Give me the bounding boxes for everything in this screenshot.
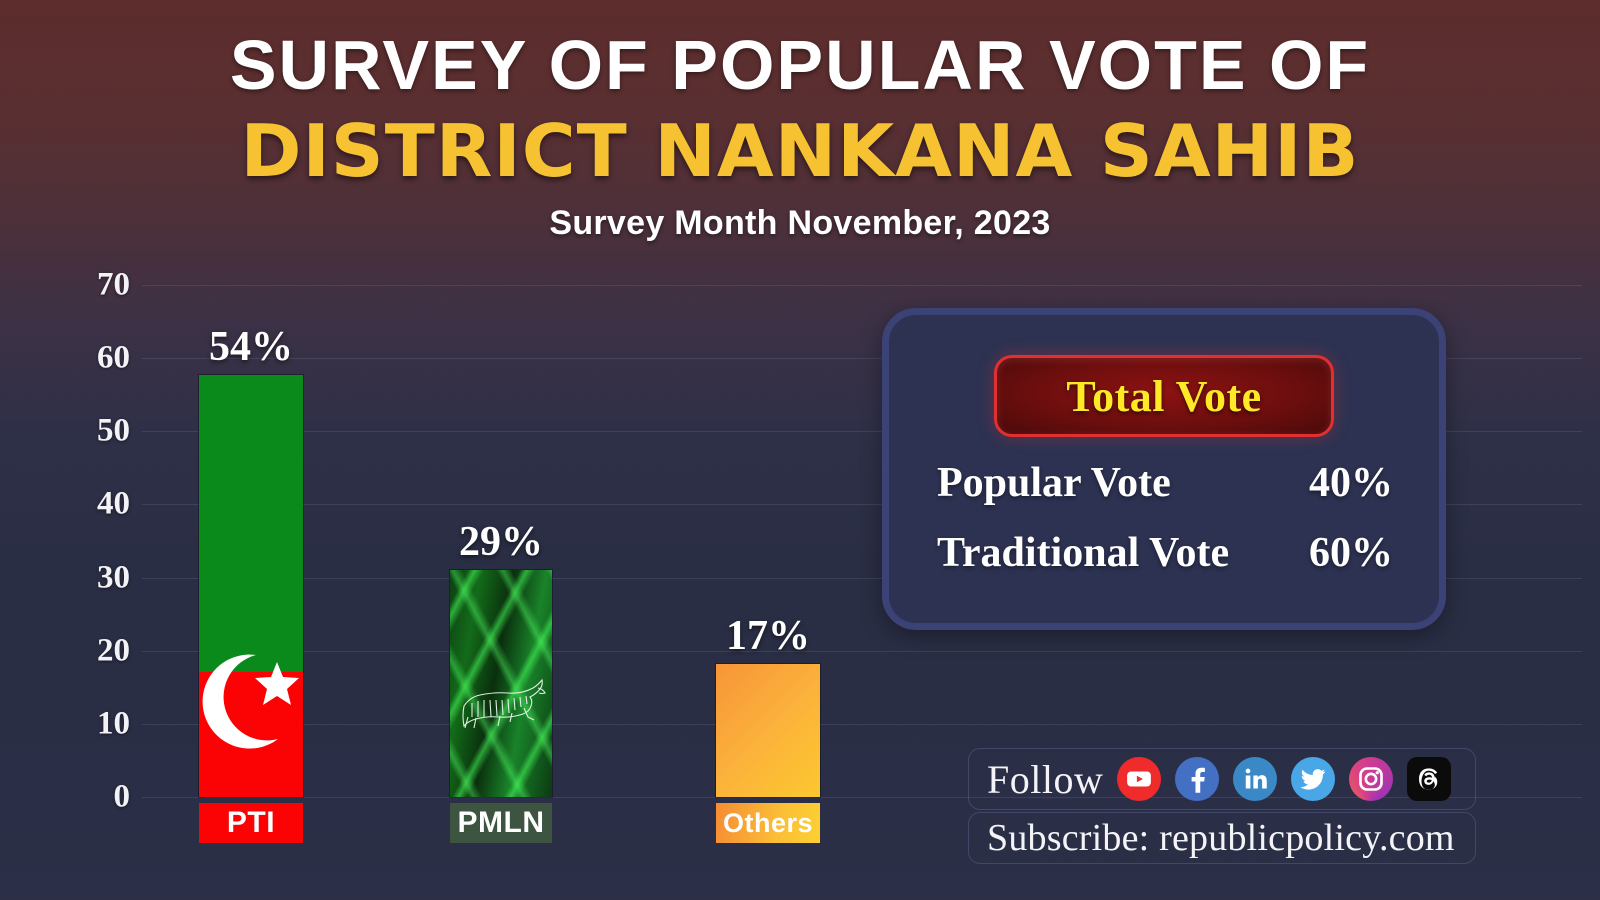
bar-others[interactable]: 17% Others — [716, 664, 820, 797]
gridline — [142, 724, 1582, 725]
y-tick-label: 0 — [60, 779, 130, 816]
y-tick-label: 30 — [60, 560, 130, 597]
y-axis: 70 60 50 40 30 20 10 0 — [55, 250, 130, 900]
total-vote-panel: Total Vote Popular Vote 40% Traditional … — [882, 308, 1446, 630]
bar-fill-pti — [199, 375, 303, 797]
youtube-icon[interactable] — [1117, 757, 1161, 801]
y-tick-label: 60 — [60, 340, 130, 377]
bar-label-pmln: PMLN — [450, 803, 552, 843]
bar-fill-pmln — [450, 570, 552, 797]
crescent-star-icon — [199, 375, 303, 797]
linkedin-icon[interactable] — [1233, 757, 1277, 801]
gridline — [142, 651, 1582, 652]
bar-label-pti: PTI — [199, 803, 303, 843]
y-tick-label: 20 — [60, 633, 130, 670]
follow-label: Follow — [987, 756, 1103, 803]
bar-label-text: Others — [723, 808, 813, 839]
follow-bar: Follow — [968, 748, 1476, 810]
y-tick-label: 70 — [60, 267, 130, 304]
y-tick-label: 10 — [60, 706, 130, 743]
subscribe-bar[interactable]: Subscribe: republicpolicy.com — [968, 812, 1476, 864]
bar-label-text: PTI — [227, 806, 275, 840]
facebook-icon[interactable] — [1175, 757, 1219, 801]
subscribe-label: Subscribe: republicpolicy.com — [987, 816, 1455, 860]
bar-fill-others — [716, 664, 820, 797]
gridline — [142, 285, 1582, 286]
bar-label-others: Others — [716, 803, 820, 843]
page-title: SURVEY OF POPULAR VOTE OF — [0, 30, 1600, 100]
total-vote-badge-label: Total Vote — [1066, 371, 1261, 422]
twitter-icon[interactable] — [1291, 757, 1335, 801]
bar-value-pti: 54% — [209, 323, 293, 371]
header: SURVEY OF POPULAR VOTE OF DISTRICT NANKA… — [0, 0, 1600, 243]
threads-icon[interactable] — [1407, 757, 1451, 801]
y-tick-label: 40 — [60, 486, 130, 523]
popular-vote-value: 40% — [1263, 459, 1393, 507]
y-tick-label: 50 — [60, 413, 130, 450]
traditional-vote-value: 60% — [1263, 529, 1393, 577]
panel-row-traditional-vote: Traditional Vote 60% — [925, 529, 1403, 577]
survey-month-subtitle: Survey Month November, 2023 — [0, 204, 1600, 243]
total-vote-badge: Total Vote — [994, 355, 1334, 437]
instagram-icon[interactable] — [1349, 757, 1393, 801]
bar-value-pmln: 29% — [459, 518, 543, 566]
traditional-vote-label: Traditional Vote — [937, 529, 1229, 577]
page-title-district: DISTRICT NANKANA SAHIB — [0, 114, 1600, 190]
bar-value-others: 17% — [726, 612, 810, 660]
bar-pti[interactable]: 54% PTI — [199, 375, 303, 797]
popular-vote-label: Popular Vote — [937, 459, 1171, 507]
bar-pmln[interactable]: 29% PMLN — [450, 570, 552, 797]
tiger-icon — [450, 570, 552, 797]
panel-row-popular-vote: Popular Vote 40% — [925, 459, 1403, 507]
bar-label-text: PMLN — [458, 806, 545, 840]
